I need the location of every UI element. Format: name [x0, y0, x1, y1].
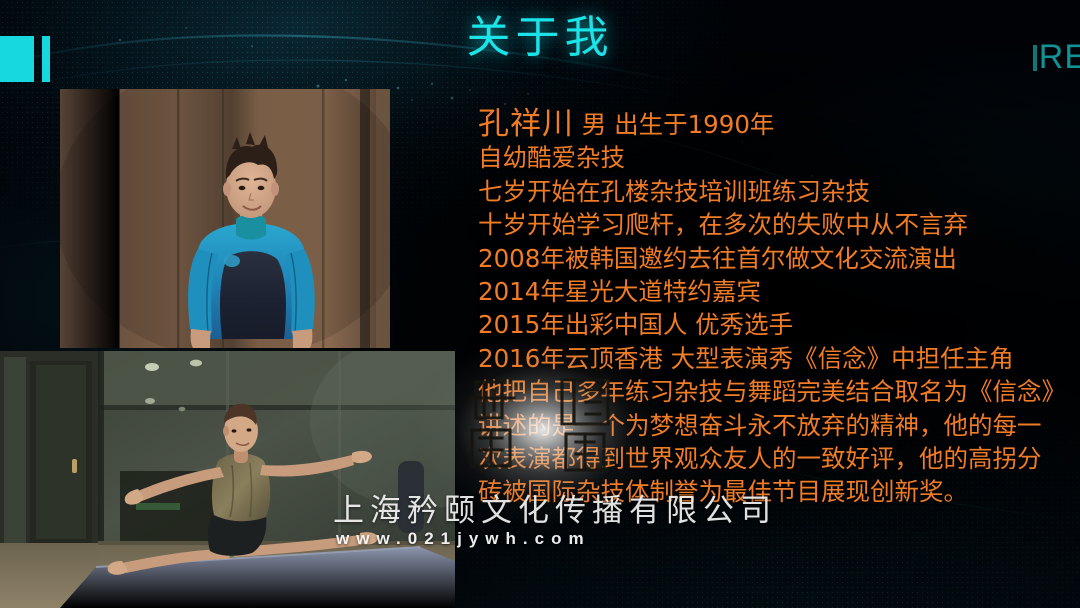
corner-word: RE — [1033, 38, 1080, 77]
bio-line: 十岁开始学习爬杆，在多次的失败中从不言弃 — [478, 208, 1068, 241]
page-title: 关于我 — [0, 14, 1080, 62]
bio-headline-rest: 男 出生于1990年 — [582, 110, 775, 139]
bio-line: 2016年云顶香港 大型表演秀《信念》中担任主角 — [478, 342, 1068, 375]
bio-line: 七岁开始在孔楼杂技培训班练习杂技 — [478, 175, 1068, 208]
bio-name: 孔祥川 — [478, 106, 574, 142]
bio-text-block: 孔祥川 男 出生于1990年 自幼酷爱杂技 七岁开始在孔楼杂技培训班练习杂技 十… — [478, 108, 1068, 509]
bio-line: 2015年出彩中国人 优秀选手 — [478, 308, 1068, 341]
bio-paragraph: 他把自己多年练习杂技与舞蹈完美结合取名为《信念》讲述的是一个为梦想奋斗永不放弃的… — [478, 375, 1058, 509]
bio-line: 自幼酷爱杂技 — [478, 141, 1068, 174]
bio-line: 2014年星光大道特约嘉宾 — [478, 275, 1068, 308]
slide-root: 关于我 RE — [0, 0, 1080, 608]
corner-word-label: RE — [1039, 38, 1080, 76]
bio-line: 2008年被韩国邀约去往首尔做文化交流演出 — [478, 242, 1068, 275]
corner-word-clip-bar — [1033, 45, 1037, 71]
bio-headline: 孔祥川 男 出生于1990年 — [478, 108, 1068, 141]
photo-portrait-wetsuit — [60, 89, 390, 348]
photo-splits-training — [0, 351, 455, 608]
